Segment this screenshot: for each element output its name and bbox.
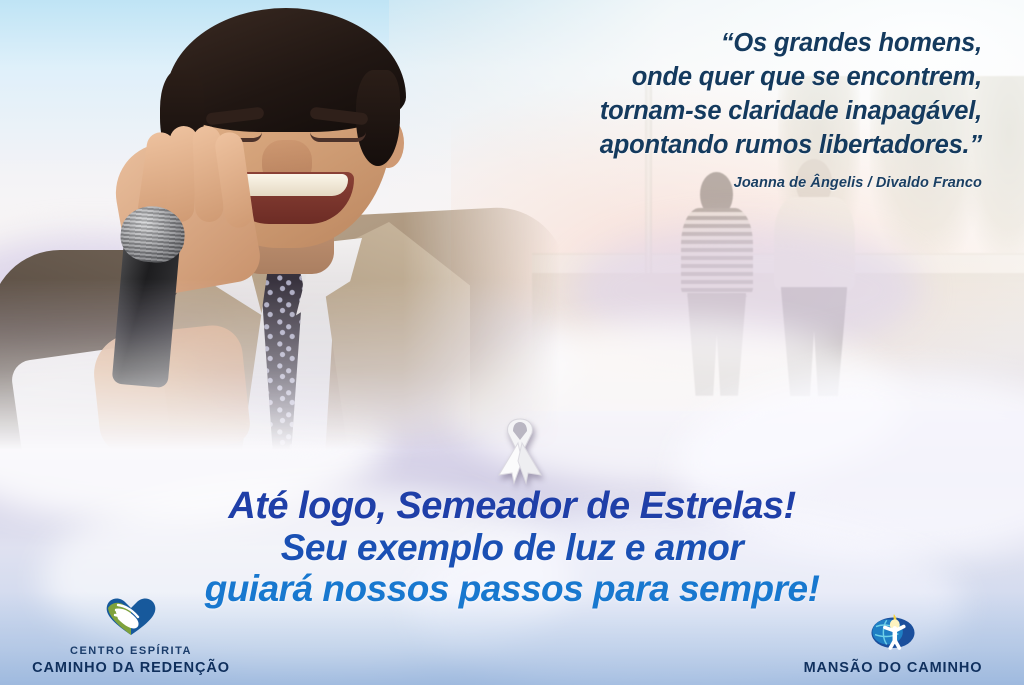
logo-left-line-1: CENTRO ESPÍRITA (6, 645, 256, 659)
person-legs (781, 287, 847, 396)
background-person-striped-shirt (676, 168, 758, 392)
person-legs (687, 293, 746, 396)
quote-block: “Os grandes homens, onde quer que se enc… (382, 26, 982, 191)
quote-line-4: apontando rumos libertadores.” (382, 128, 982, 162)
message-line-2: Seu exemplo de luz e amor (0, 529, 1024, 568)
person-torso (774, 197, 855, 292)
globe-figure-icon (768, 611, 1018, 656)
memorial-message: Até logo, Semeador de Estrelas! Seu exem… (0, 487, 1024, 609)
person-torso (681, 208, 753, 297)
quote-line-1: “Os grandes homens, (382, 26, 982, 60)
logo-centro-espirita-caminho-da-redencao[interactable]: CENTRO ESPÍRITA CAMINHO DA REDENÇÃO (6, 595, 256, 677)
message-line-1: Até logo, Semeador de Estrelas! (0, 487, 1024, 527)
portrait-eye-right (310, 132, 366, 142)
memorial-poster: “Os grandes homens, onde quer que se enc… (0, 0, 1024, 685)
logo-mansao-do-caminho[interactable]: MANSÃO DO CAMINHO (768, 611, 1018, 677)
quote-line-3: tornam-se claridade inapagável, (382, 94, 982, 128)
white-ribbon-icon (489, 413, 551, 489)
quote-line-2: onde quer que se encontrem, (382, 60, 982, 94)
logo-left-line-2: CAMINHO DA REDENÇÃO (6, 659, 256, 677)
heart-hands-icon (6, 595, 256, 642)
logo-right-line-1: MANSÃO DO CAMINHO (768, 659, 1018, 677)
quote-attribution: Joanna de Ângelis / Divaldo Franco (382, 175, 982, 191)
